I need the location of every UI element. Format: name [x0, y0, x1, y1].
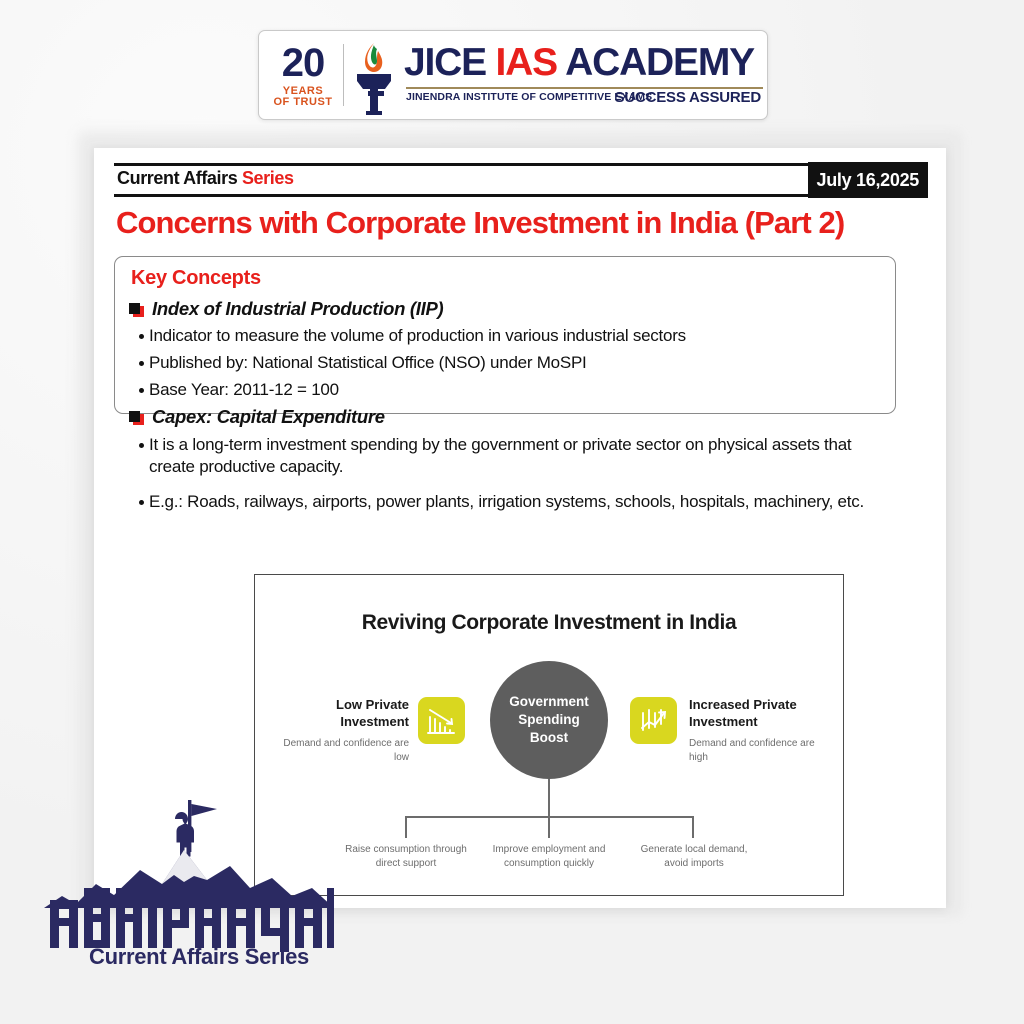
center-node-line3: Boost: [530, 729, 568, 747]
list-item-label: Base Year: 2011-12 = 100: [149, 379, 339, 402]
right-node-sub: Demand and confidence are high: [689, 737, 819, 764]
abhiprayah-tagline: Current Affairs Series: [58, 944, 340, 970]
series-label: Current Affairs Series: [117, 168, 294, 189]
series-label-red: Series: [242, 168, 294, 188]
list-item-label: Published by: National Statistical Offic…: [149, 352, 587, 375]
key-concepts-title: Key Concepts: [131, 267, 881, 290]
spacer: [129, 483, 881, 491]
center-node-line1: Government: [509, 693, 589, 711]
list-item: Published by: National Statistical Offic…: [139, 352, 881, 375]
mountain-climber-flag-icon: [44, 792, 334, 952]
academy-title: JICE IAS ACADEMY: [404, 43, 763, 82]
square-bullet-icon: [129, 411, 144, 425]
list-item: Base Year: 2011-12 = 100: [139, 379, 881, 402]
list-item-label: It is a long-term investment spending by…: [149, 434, 881, 480]
years-number: 20: [282, 43, 325, 83]
academy-title-academy: ACADEMY: [565, 41, 754, 84]
torch-icon: [344, 31, 404, 119]
key-concepts-box: Key Concepts Index of Industrial Product…: [114, 256, 896, 414]
outcome-label: Raise consumption through direct support: [341, 843, 471, 871]
academy-title-jice: JICE: [404, 41, 496, 84]
outcome-label: Improve employment and consumption quick…: [485, 843, 613, 871]
concept-heading: Capex: Capital Expenditure: [152, 405, 385, 428]
years-word: YEARS: [283, 86, 323, 97]
concept-heading-row: Capex: Capital Expenditure: [129, 405, 881, 428]
declining-bar-chart-icon: [418, 697, 465, 744]
concept-heading-row: Index of Industrial Production (IIP): [129, 297, 881, 320]
connector-drop-left: [405, 816, 407, 838]
header-rule-top: [114, 163, 814, 166]
connector-drop-right: [692, 816, 694, 838]
center-node: Government Spending Boost: [490, 661, 608, 779]
dot-bullet-icon: [139, 334, 144, 339]
concept-heading: Index of Industrial Production (IIP): [152, 297, 443, 320]
left-node-label: Low Private Investment: [291, 697, 409, 731]
list-item-label: E.g.: Roads, railways, airports, power p…: [149, 491, 864, 514]
date-badge: July 16,2025: [808, 162, 928, 198]
card-header: Current Affairs Series July 16,2025: [114, 163, 928, 197]
outcome-label: Generate local demand, avoid imports: [629, 843, 759, 871]
of-trust-label: OF TRUST: [274, 97, 333, 108]
abhiprayah-logo: Current Affairs Series: [44, 792, 344, 1014]
series-label-black: Current Affairs: [117, 168, 242, 188]
list-item: It is a long-term investment spending by…: [139, 434, 881, 480]
dot-bullet-icon: [139, 361, 144, 366]
dot-bullet-icon: [139, 500, 144, 505]
connector-vertical: [548, 779, 550, 817]
list-item: Indicator to measure the volume of produ…: [139, 325, 881, 348]
list-item-label: Indicator to measure the volume of produ…: [149, 325, 686, 348]
right-node-label: Increased Private Investment: [689, 697, 815, 731]
page-title: Concerns with Corporate Investment in In…: [116, 206, 928, 240]
academy-title-ias: IAS: [496, 41, 566, 84]
header-rule-bottom: [114, 194, 814, 197]
connector-drop-center: [548, 816, 550, 838]
infographic-title: Reviving Corporate Investment in India: [255, 611, 843, 635]
twenty-years-badge: 20 YEARS OF TRUST: [259, 31, 343, 119]
dot-bullet-icon: [139, 388, 144, 393]
academy-logo-banner: 20 YEARS OF TRUST JICE IAS ACADEMY JINEN…: [258, 30, 768, 120]
dot-bullet-icon: [139, 443, 144, 448]
list-item: E.g.: Roads, railways, airports, power p…: [139, 491, 881, 514]
rising-line-chart-icon: [630, 697, 677, 744]
left-node-sub: Demand and confidence are low: [281, 737, 409, 764]
square-bullet-icon: [129, 303, 144, 317]
academy-tagline: SUCCESS ASSURED: [615, 89, 761, 106]
academy-name-block: JICE IAS ACADEMY JINENDRA INSTITUTE OF C…: [404, 31, 767, 119]
center-node-line2: Spending: [518, 711, 580, 729]
